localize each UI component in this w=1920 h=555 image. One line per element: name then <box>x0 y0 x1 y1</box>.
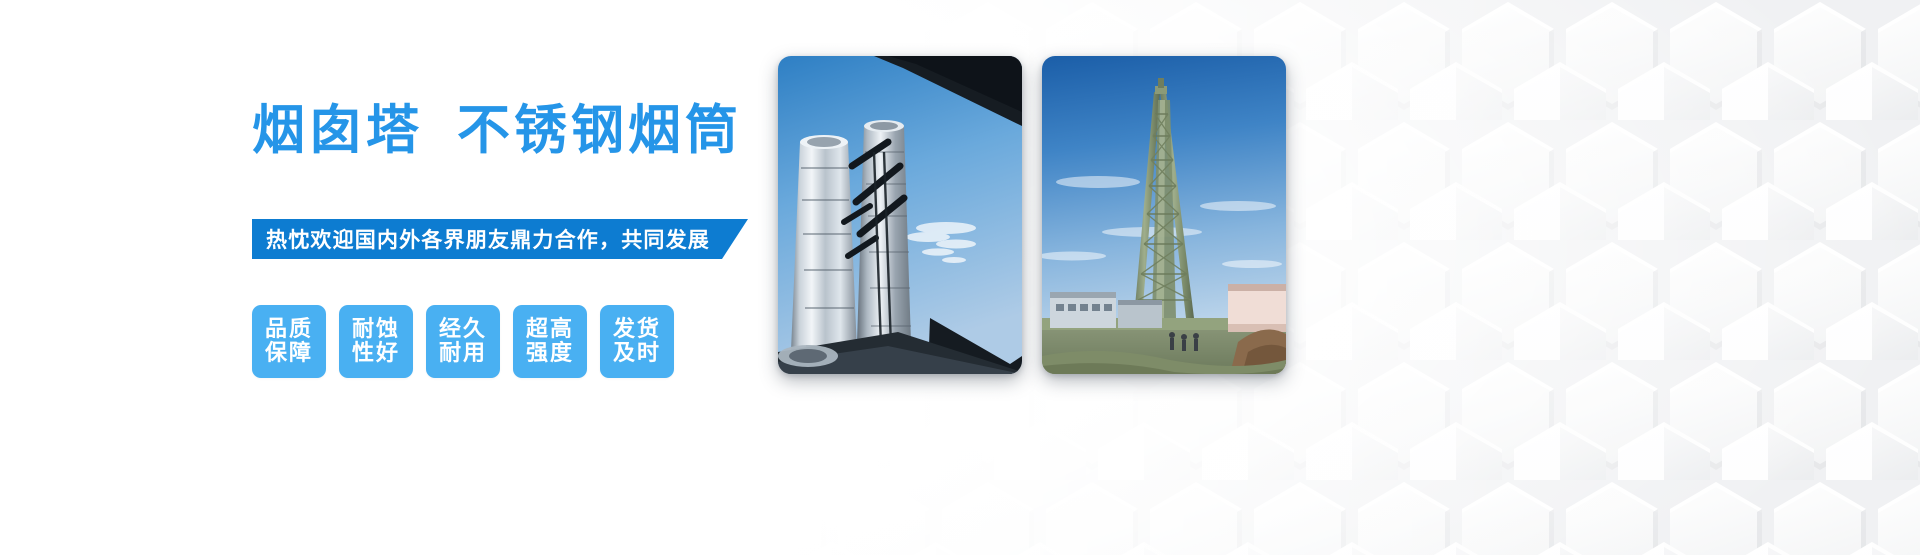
feature-badge-fast-delivery[interactable]: 发货 及时 <box>600 305 674 378</box>
headline-part-1: 烟囱塔 <box>252 100 423 161</box>
badge-line-2: 保障 <box>265 342 313 366</box>
photo-lattice-tower[interactable] <box>1042 56 1286 374</box>
feature-badge-quality[interactable]: 品质 保障 <box>252 305 326 378</box>
badge-line-1: 发货 <box>613 318 661 342</box>
headline-part-2: 不锈钢烟筒 <box>457 100 742 161</box>
badge-line-1: 超高 <box>526 318 574 342</box>
feature-badge-strength[interactable]: 超高 强度 <box>513 305 587 378</box>
promotional-banner: 烟囱塔不锈钢烟筒 热忱欢迎国内外各界朋友鼎力合作，共同发展 品质 保障 耐蚀 性… <box>0 0 1920 555</box>
slogan-text: 热忱欢迎国内外各界朋友鼎力合作，共同发展 <box>266 224 710 254</box>
badge-line-2: 耐用 <box>439 342 487 366</box>
slogan-ribbon: 热忱欢迎国内外各界朋友鼎力合作，共同发展 <box>252 219 748 259</box>
badge-line-1: 经久 <box>439 318 487 342</box>
badge-line-2: 强度 <box>526 342 574 366</box>
lattice-tower-illustration <box>1042 56 1286 374</box>
photo-chimney-stacks[interactable] <box>778 56 1022 374</box>
badge-line-2: 及时 <box>613 342 661 366</box>
badge-line-2: 性好 <box>352 342 400 366</box>
feature-badge-corrosion-resistance[interactable]: 耐蚀 性好 <box>339 305 413 378</box>
chimney-stacks-illustration <box>778 56 1022 374</box>
banner-content: 烟囱塔不锈钢烟筒 热忱欢迎国内外各界朋友鼎力合作，共同发展 品质 保障 耐蚀 性… <box>0 0 860 555</box>
badge-line-1: 耐蚀 <box>352 318 400 342</box>
feature-badge-list: 品质 保障 耐蚀 性好 经久 耐用 超高 强度 发货 及时 <box>252 305 674 378</box>
page-title: 烟囱塔不锈钢烟筒 <box>252 88 742 164</box>
feature-badge-durability[interactable]: 经久 耐用 <box>426 305 500 378</box>
badge-line-1: 品质 <box>265 318 313 342</box>
